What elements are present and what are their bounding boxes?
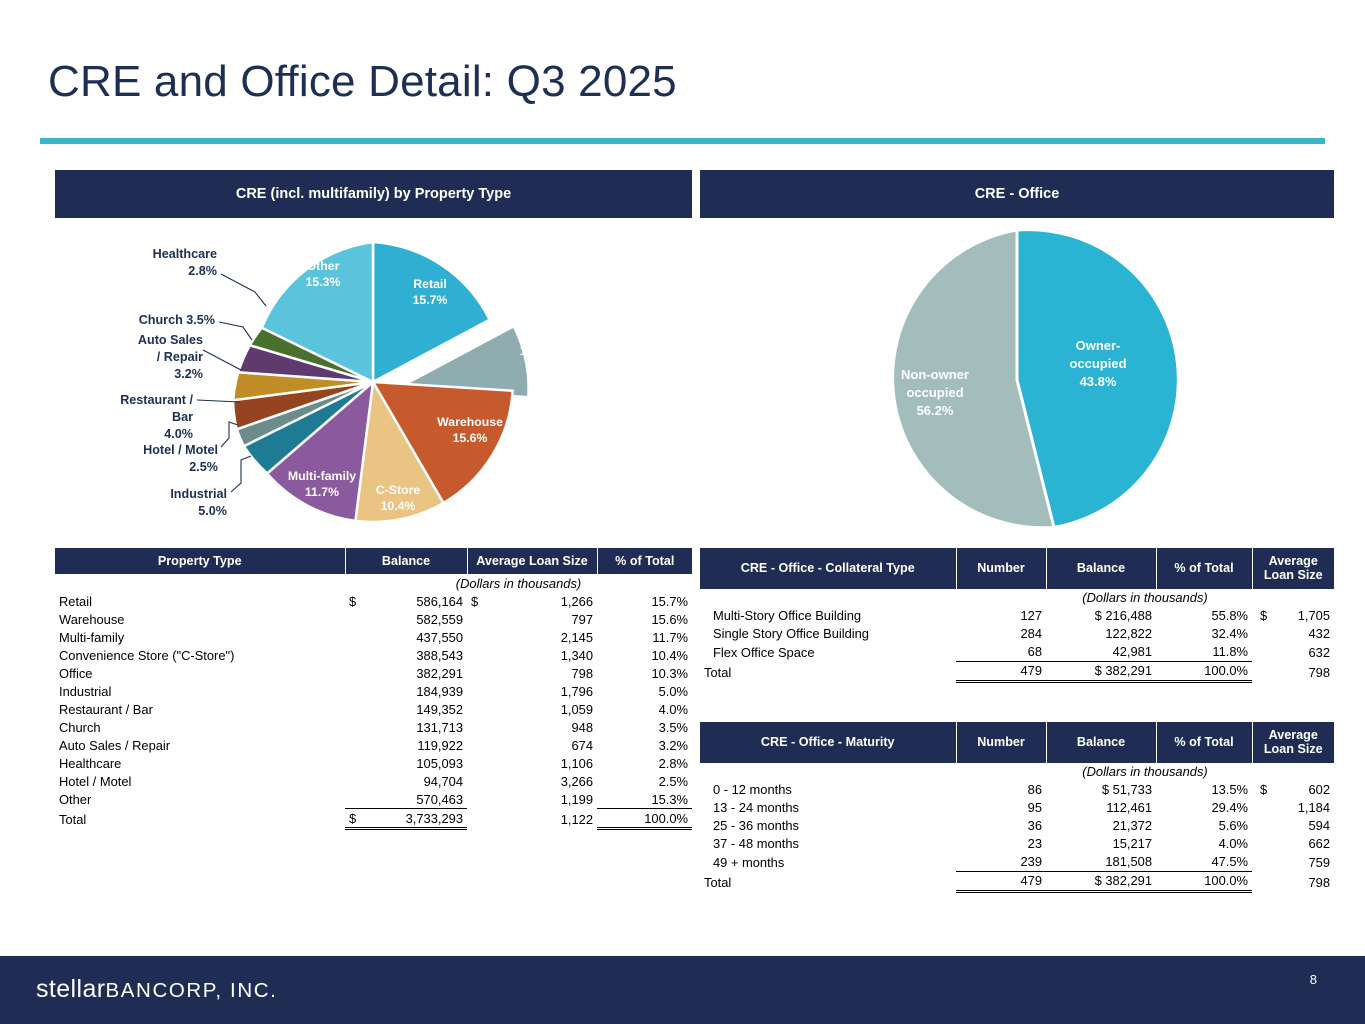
th-property-type: Property Type [55,548,345,574]
pie-left-slices [233,242,529,522]
cell-balance: 21,372 [1046,817,1156,835]
cell-avg-loan-size: 1,059 [489,700,597,718]
cell-pct: 2.5% [597,772,692,790]
slice-label-other-name: Other [307,259,340,273]
logo-secondary-text: BANCORP, INC. [106,979,278,1002]
cell-pct: 5.0% [597,682,692,700]
table-header-row: CRE - Office - Maturity Number Balance %… [700,722,1334,763]
cell-name: 0 - 12 months [700,781,956,799]
cell-balance: 105,093 [367,754,467,772]
cell-avg-currency: $ [1252,607,1272,625]
cell-balance-currency [345,646,367,664]
dollars-note: (Dollars in thousands) [345,574,692,592]
table-property-type-head: Property Type Balance Average Loan Size … [55,548,692,574]
cell-avg-currency [467,736,489,754]
cell-name: Church [55,718,345,736]
table-row: Single Story Office Building 284 122,822… [700,625,1334,643]
cell-number: 127 [956,607,1046,625]
cell-avg-loan-size: 1,106 [489,754,597,772]
th-number: Number [956,548,1046,589]
cell-avg-currency [467,664,489,682]
callout-auto-sales-line1: Auto Sales [138,333,203,347]
cell-balance: 149,352 [367,700,467,718]
th-balance: Balance [1046,722,1156,763]
table-row: 13 - 24 months 95 112,461 29.4% 1,184 [700,799,1334,817]
cell-number: 284 [956,625,1046,643]
cell-avg-currency [1252,799,1272,817]
slice-label-warehouse-name: Warehouse [437,415,503,429]
cell-balance: 119,922 [367,736,467,754]
cell-avg-loan-size: 632 [1272,643,1334,662]
cell-name: Auto Sales / Repair [55,736,345,754]
cell-pct: 15.6% [597,610,692,628]
cell-balance-currency [345,790,367,809]
cell-total-avg-loan-size: 1,122 [489,809,597,829]
callout-auto-sales-line3: 3.2% [174,367,203,381]
table-header-row: Property Type Balance Average Loan Size … [55,548,692,574]
slice-label-c-store-value: 10.4% [381,499,416,513]
slice-label-retail-value: 15.7% [413,293,448,307]
panel-header-cre-office: CRE - Office [700,170,1334,218]
cell-balance: 582,559 [367,610,467,628]
cell-avg-loan-size: 797 [489,610,597,628]
cell-total-label: Total [700,871,956,891]
cell-avg-loan-size: 1,266 [489,592,597,610]
th-average-loan-size: Average Loan Size [467,548,597,574]
cell-total-number: 479 [956,661,1046,681]
cell-avg-currency [467,628,489,646]
cell-balance-currency [345,754,367,772]
leader-church [219,322,252,340]
cell-name: Convenience Store ("C-Store") [55,646,345,664]
table-property-type-body: (Dollars in thousands) Retail $ 586,164 … [55,574,692,829]
table-collateral-head: CRE - Office - Collateral Type Number Ba… [700,548,1334,589]
cell-pct: 11.7% [597,628,692,646]
table-maturity-head: CRE - Office - Maturity Number Balance %… [700,722,1334,763]
cell-pct: 10.3% [597,664,692,682]
slice-label-owner-line1: Owner- [1076,338,1121,353]
cell-name: 13 - 24 months [700,799,956,817]
cell-balance-currency [345,610,367,628]
cell-pct: 5.6% [1156,817,1252,835]
cell-balance-currency [345,664,367,682]
table-total-row: Total 479 $ 382,291 100.0% 798 [700,661,1334,681]
pie-chart-cre-office-occupancy: Owner- occupied 43.8% Non-owner occupied… [700,222,1334,542]
cell-avg-loan-size: 2,145 [489,628,597,646]
table-note-row: (Dollars in thousands) [700,589,1334,607]
table-row: 49 + months 239 181,508 47.5% 759 [700,853,1334,872]
table-row: Industrial 184,939 1,796 5.0% [55,682,692,700]
cell-avg-loan-size: 3,266 [489,772,597,790]
cell-pct: 32.4% [1156,625,1252,643]
cell-name: Flex Office Space [700,643,956,662]
leader-industrial [231,456,251,492]
cell-total-number: 479 [956,871,1046,891]
cell-avg-currency [1252,853,1272,872]
cell-balance-currency [345,736,367,754]
callout-industrial-line1: Industrial [170,487,227,501]
cell-pct: 13.5% [1156,781,1252,799]
slice-label-multi-family-value: 11.7% [305,485,339,499]
cell-pct: 3.5% [597,718,692,736]
callout-healthcare-line2: 2.8% [188,264,217,278]
cell-avg-currency [467,772,489,790]
slice-label-non-owner-line2: occupied [906,385,963,400]
th-collateral-type: CRE - Office - Collateral Type [700,548,956,589]
cell-name: Healthcare [55,754,345,772]
cell-name: Multi-Story Office Building [700,607,956,625]
cell-avg-loan-size: 1,340 [489,646,597,664]
table-collateral-body: (Dollars in thousands) Multi-Story Offic… [700,589,1334,682]
cell-total-pct: 100.0% [1156,871,1252,891]
cell-number: 68 [956,643,1046,662]
cell-balance: $ 216,488 [1046,607,1156,625]
cell-balance: 388,543 [367,646,467,664]
cell-avg-loan-size: 798 [489,664,597,682]
pie-left-callout-labels: Healthcare 2.8% Church 3.5% Auto Sales /… [120,247,227,518]
cell-number: 95 [956,799,1046,817]
cell-total-balance-currency: $ [345,809,367,829]
th-average-loan-size: Average Loan Size [1252,722,1334,763]
th-balance: Balance [345,548,467,574]
table-row: Multi-Story Office Building 127 $ 216,48… [700,607,1334,625]
callout-church-line1: Church 3.5% [139,313,215,327]
table-row: Hotel / Motel 94,704 3,266 2.5% [55,772,692,790]
cell-balance: $ 51,733 [1046,781,1156,799]
table-note-row: (Dollars in thousands) [700,763,1334,781]
cell-total-pct: 100.0% [597,809,692,829]
dollars-note: (Dollars in thousands) [956,589,1334,607]
cell-name: Warehouse [55,610,345,628]
table-row: Flex Office Space 68 42,981 11.8% 632 [700,643,1334,662]
cell-avg-loan-size: 594 [1272,817,1334,835]
leader-healthcare [221,274,266,306]
slice-label-owner-line2: occupied [1069,356,1126,371]
cell-avg-currency [467,682,489,700]
cell-total-avg-currency [1252,871,1272,891]
cell-avg-currency [1252,817,1272,835]
slice-label-non-owner-line3: 56.2% [917,403,954,418]
table-header-row: CRE - Office - Collateral Type Number Ba… [700,548,1334,589]
table-maturity-body: (Dollars in thousands) 0 - 12 months 86 … [700,763,1334,892]
cell-avg-currency [1252,625,1272,643]
cell-total-balance: $ 382,291 [1046,871,1156,891]
table-row: Retail $ 586,164 $ 1,266 15.7% [55,592,692,610]
cell-name: Office [55,664,345,682]
cell-pct: 4.0% [597,700,692,718]
cell-balance-currency [345,718,367,736]
callout-hotel-line1: Hotel / Motel [143,443,218,457]
cell-balance-currency [345,772,367,790]
cell-avg-currency [467,718,489,736]
table-property-type: Property Type Balance Average Loan Size … [55,548,692,830]
dollars-note: (Dollars in thousands) [956,763,1334,781]
cell-pct: 10.4% [597,646,692,664]
cell-total-balance: $ 382,291 [1046,661,1156,681]
cell-balance-currency [345,700,367,718]
cell-name: Other [55,790,345,809]
cell-avg-currency [467,646,489,664]
cell-number: 23 [956,835,1046,853]
cell-pct: 11.8% [1156,643,1252,662]
cell-name: Industrial [55,682,345,700]
cell-pct: 55.8% [1156,607,1252,625]
cell-name: Multi-family [55,628,345,646]
slice-label-warehouse-value: 15.6% [453,431,488,445]
cell-avg-loan-size: 602 [1272,781,1334,799]
cell-balance: 570,463 [367,790,467,809]
callout-restaurant-line1: Restaurant / [120,393,193,407]
th-pct-of-total: % of Total [1156,548,1252,589]
table-total-row: Total $ 3,733,293 1,122 100.0% [55,809,692,829]
table-note-row: (Dollars in thousands) [55,574,692,592]
cell-balance: 181,508 [1046,853,1156,872]
callout-healthcare-line1: Healthcare [153,247,217,261]
cell-avg-currency [467,610,489,628]
cell-avg-loan-size: 948 [489,718,597,736]
th-average-loan-size: Average Loan Size [1252,548,1334,589]
slice-label-non-owner-line1: Non-owner [901,367,969,382]
slice-label-retail-name: Retail [413,277,447,291]
cell-avg-loan-size: 1,184 [1272,799,1334,817]
cell-balance: 15,217 [1046,835,1156,853]
cell-name: 49 + months [700,853,956,872]
cell-avg-currency [467,700,489,718]
cell-name: Single Story Office Building [700,625,956,643]
cell-number: 86 [956,781,1046,799]
slice-label-office-value: 10.3% [520,344,555,358]
cell-avg-loan-size: 674 [489,736,597,754]
cell-balance-currency: $ [345,592,367,610]
table-total-row: Total 479 $ 382,291 100.0% 798 [700,871,1334,891]
cell-balance: 122,822 [1046,625,1156,643]
cell-pct: 4.0% [1156,835,1252,853]
slice-label-office-name: Office [520,328,555,342]
cell-avg-loan-size: 759 [1272,853,1334,872]
th-maturity: CRE - Office - Maturity [700,722,956,763]
cell-avg-loan-size: 1,796 [489,682,597,700]
pie-chart-cre-by-property-type: Retail 15.7% Office 10.3% Warehouse 15.6… [55,222,692,542]
cell-balance: 586,164 [367,592,467,610]
accent-divider [40,138,1325,144]
table-row: Church 131,713 948 3.5% [55,718,692,736]
callout-industrial-line2: 5.0% [198,504,227,518]
callout-restaurant-line3: 4.0% [164,427,193,441]
table-row: Other 570,463 1,199 15.3% [55,790,692,809]
slide-footer: stellarBANCORP, INC. 8 [0,956,1365,1024]
cell-name: Hotel / Motel [55,772,345,790]
cell-pct: 15.3% [597,790,692,809]
cell-name: Restaurant / Bar [55,700,345,718]
cell-name: 25 - 36 months [700,817,956,835]
page-number: 8 [1310,972,1317,987]
th-balance: Balance [1046,548,1156,589]
table-row: 25 - 36 months 36 21,372 5.6% 594 [700,817,1334,835]
table-row: 37 - 48 months 23 15,217 4.0% 662 [700,835,1334,853]
th-pct-of-total: % of Total [1156,722,1252,763]
table-office-maturity: CRE - Office - Maturity Number Balance %… [700,722,1334,893]
cell-balance: 112,461 [1046,799,1156,817]
cell-total-balance: 3,733,293 [367,809,467,829]
cell-number: 36 [956,817,1046,835]
cell-avg-currency: $ [1252,781,1272,799]
slice-label-c-store-name: C-Store [376,483,421,497]
table-row: Auto Sales / Repair 119,922 674 3.2% [55,736,692,754]
cell-name: 37 - 48 months [700,835,956,853]
pie-right-svg: Owner- occupied 43.8% Non-owner occupied… [700,222,1334,542]
cell-balance: 131,713 [367,718,467,736]
cell-pct: 15.7% [597,592,692,610]
page-title: CRE and Office Detail: Q3 2025 [48,57,677,107]
panel-header-cre-property-type: CRE (incl. multifamily) by Property Type [55,170,692,218]
slice-label-other-value: 15.3% [306,275,341,289]
cell-balance: 184,939 [367,682,467,700]
cell-pct: 2.8% [597,754,692,772]
cell-balance: 42,981 [1046,643,1156,662]
cell-total-avg-currency [1252,661,1272,681]
leader-auto-sales [203,350,241,370]
callout-hotel-line2: 2.5% [189,460,218,474]
cell-balance-currency [345,628,367,646]
callout-restaurant-line2: Bar [172,410,193,424]
cell-avg-currency [467,754,489,772]
cell-balance: 382,291 [367,664,467,682]
cell-total-avg-loan-size: 798 [1272,871,1334,891]
cell-avg-loan-size: 1,199 [489,790,597,809]
cell-avg-currency [467,790,489,809]
table-row: Multi-family 437,550 2,145 11.7% [55,628,692,646]
cell-balance-currency [345,682,367,700]
cell-total-avg-loan-size: 798 [1272,661,1334,681]
cell-avg-loan-size: 662 [1272,835,1334,853]
logo-primary-text: stellar [36,975,106,1003]
cell-avg-loan-size: 1,705 [1272,607,1334,625]
table-row: Warehouse 582,559 797 15.6% [55,610,692,628]
cell-avg-currency [1252,835,1272,853]
cell-number: 239 [956,853,1046,872]
table-row: Healthcare 105,093 1,106 2.8% [55,754,692,772]
cell-pct: 29.4% [1156,799,1252,817]
cell-total-label: Total [55,809,345,829]
cell-name: Retail [55,592,345,610]
cell-balance: 437,550 [367,628,467,646]
callout-auto-sales-line2: / Repair [157,350,203,364]
cell-total-label: Total [700,661,956,681]
cell-pct: 3.2% [597,736,692,754]
slice-label-multi-family-name: Multi-family [288,469,356,483]
panel-header-left-label: CRE (incl. multifamily) by Property Type [236,186,511,202]
cell-avg-currency: $ [467,592,489,610]
table-office-collateral-type: CRE - Office - Collateral Type Number Ba… [700,548,1334,683]
th-number: Number [956,722,1046,763]
table-row: Office 382,291 798 10.3% [55,664,692,682]
cell-avg-currency [1252,643,1272,662]
pie-left-svg: Retail 15.7% Office 10.3% Warehouse 15.6… [55,222,692,542]
slice-label-owner-line3: 43.8% [1080,374,1117,389]
table-row: Convenience Store ("C-Store") 388,543 1,… [55,646,692,664]
table-row: 0 - 12 months 86 $ 51,733 13.5% $ 602 [700,781,1334,799]
cell-avg-loan-size: 432 [1272,625,1334,643]
company-logo: stellarBANCORP, INC. [36,975,277,1004]
th-pct-of-total: % of Total [597,548,692,574]
table-row: Restaurant / Bar 149,352 1,059 4.0% [55,700,692,718]
cell-balance: 94,704 [367,772,467,790]
cell-total-pct: 100.0% [1156,661,1252,681]
panel-header-right-label: CRE - Office [975,186,1060,202]
cell-total-avg-currency [467,809,489,829]
cell-pct: 47.5% [1156,853,1252,872]
